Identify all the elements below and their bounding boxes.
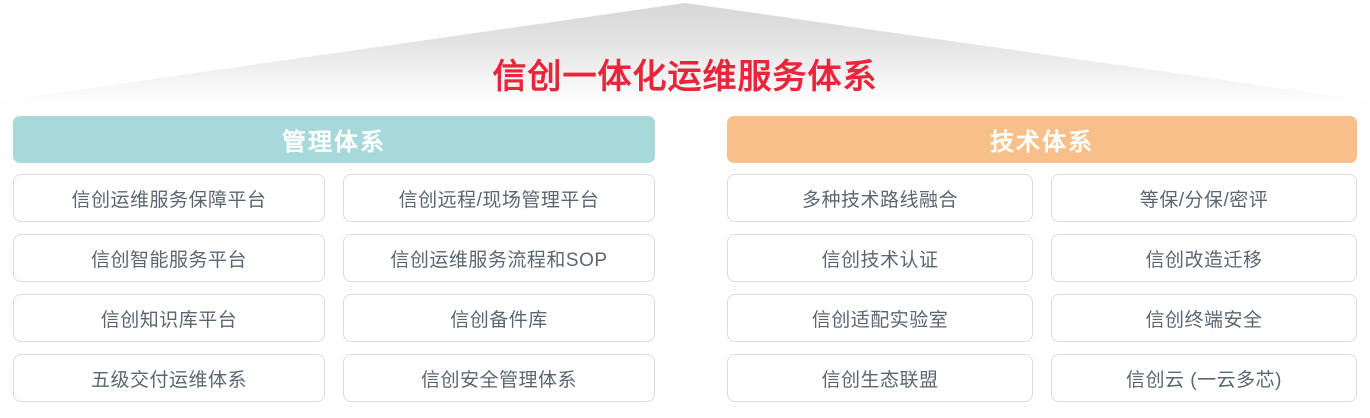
page-title: 信创一体化运维服务体系 xyxy=(0,56,1370,98)
list-item[interactable]: 信创适配实验室 xyxy=(727,294,1033,342)
list-item[interactable]: 多种技术路线融合 xyxy=(727,174,1033,222)
list-item[interactable]: 信创技术认证 xyxy=(727,234,1033,282)
list-item[interactable]: 信创终端安全 xyxy=(1051,294,1357,342)
list-item[interactable]: 信创备件库 xyxy=(343,294,655,342)
list-item[interactable]: 五级交付运维体系 xyxy=(13,354,325,402)
panel-header-technology: 技术体系 xyxy=(727,116,1357,163)
panel-technology: 技术体系 多种技术路线融合 等保/分保/密评 信创技术认证 信创改造迁移 信创适… xyxy=(727,116,1357,402)
list-item[interactable]: 信创改造迁移 xyxy=(1051,234,1357,282)
list-item[interactable]: 信创运维服务保障平台 xyxy=(13,174,325,222)
list-item[interactable]: 信创安全管理体系 xyxy=(343,354,655,402)
list-item[interactable]: 信创知识库平台 xyxy=(13,294,325,342)
list-item[interactable]: 信创远程/现场管理平台 xyxy=(343,174,655,222)
panel-management: 管理体系 信创运维服务保障平台 信创远程/现场管理平台 信创智能服务平台 信创运… xyxy=(13,116,655,402)
list-item[interactable]: 信创生态联盟 xyxy=(727,354,1033,402)
diagram-canvas: 信创一体化运维服务体系 管理体系 信创运维服务保障平台 信创远程/现场管理平台 … xyxy=(0,0,1370,418)
panel-technology-grid: 多种技术路线融合 等保/分保/密评 信创技术认证 信创改造迁移 信创适配实验室 … xyxy=(727,174,1357,402)
list-item[interactable]: 信创运维服务流程和SOP xyxy=(343,234,655,282)
panel-header-management: 管理体系 xyxy=(13,116,655,163)
panel-management-grid: 信创运维服务保障平台 信创远程/现场管理平台 信创智能服务平台 信创运维服务流程… xyxy=(13,174,655,402)
list-item[interactable]: 等保/分保/密评 xyxy=(1051,174,1357,222)
list-item[interactable]: 信创智能服务平台 xyxy=(13,234,325,282)
list-item[interactable]: 信创云 (一云多芯) xyxy=(1051,354,1357,402)
